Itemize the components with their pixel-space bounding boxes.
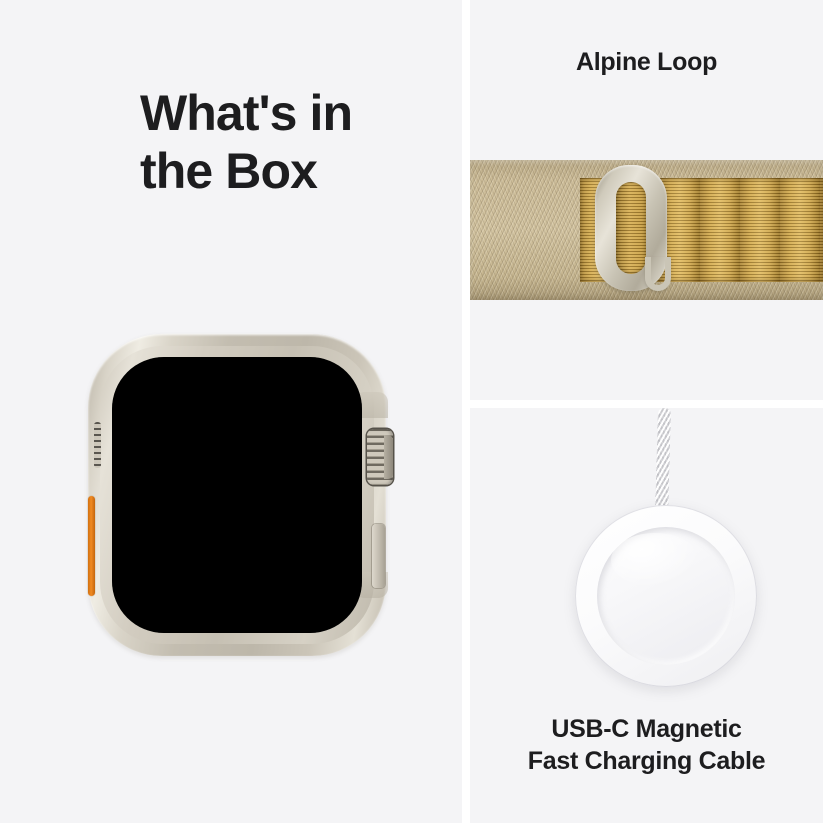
action-button[interactable] [88, 496, 95, 596]
buckle-slot [616, 182, 646, 274]
charger-caption: USB-C MagneticFast Charging Cable [470, 713, 823, 777]
band-caption: Alpine Loop [470, 46, 823, 78]
page-title-line-2: the Box [140, 143, 317, 199]
page-title: What's inthe Box [140, 84, 440, 200]
charging-puck-face [597, 527, 735, 665]
apple-watch-ultra [74, 334, 400, 656]
alpine-loop-band [470, 160, 823, 300]
panel-watch: What's inthe Box [0, 0, 462, 823]
charger-caption-line-1: USB-C Magnetic [551, 715, 741, 743]
panel-alpine-loop: Alpine Loop [470, 0, 823, 400]
page-title-line-1: What's in [140, 85, 352, 141]
braided-cable [655, 408, 671, 516]
charging-puck [575, 505, 757, 687]
speaker-grille-icon [94, 422, 101, 468]
watch-display [112, 357, 362, 633]
buckle-hook [645, 257, 671, 291]
band-g-hook-buckle [595, 165, 667, 291]
charger-caption-line-2: Fast Charging Cable [528, 747, 765, 775]
digital-crown-cap [384, 435, 393, 479]
side-button[interactable] [372, 524, 385, 588]
whats-in-the-box-figure: What's inthe Box Alpine Loop [0, 0, 823, 823]
panel-charging-cable: USB-C MagneticFast Charging Cable [470, 408, 823, 823]
usb-c-magnetic-fast-charging-cable [470, 408, 823, 708]
watch-lug-top [358, 392, 388, 418]
